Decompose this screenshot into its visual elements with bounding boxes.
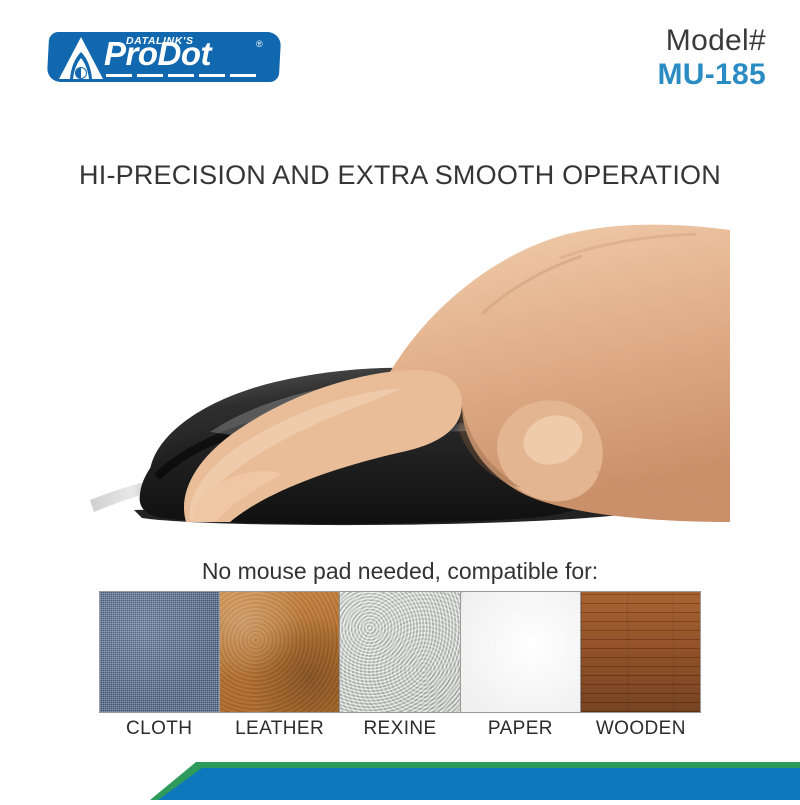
surface-swatch-strip (99, 591, 701, 713)
hero-product-image (90, 222, 730, 540)
footer-blue-band (158, 768, 800, 800)
swatch-label-leather: LEATHER (219, 718, 339, 740)
paper-swatch (460, 592, 580, 712)
registered-trademark-icon: ® (256, 39, 263, 49)
swatch-label-paper: PAPER (460, 718, 580, 740)
wooden-swatch (580, 592, 700, 712)
footer-accent-bar (0, 754, 800, 800)
rexine-swatch (339, 592, 459, 712)
cloth-swatch (100, 592, 219, 712)
prodot-logo: DATALINK'S ProDot ® (47, 32, 282, 82)
compatibility-title: No mouse pad needed, compatible for: (0, 558, 800, 585)
mountain-triangle-icon (58, 36, 104, 80)
page-headline: HI-PRECISION AND EXTRA SMOOTH OPERATION (0, 160, 800, 191)
footer-bar-shape (0, 754, 800, 800)
surface-label-row: CLOTH LEATHER REXINE PAPER WOODEN (99, 718, 701, 740)
page-header: DATALINK'S ProDot ® Model# MU-185 (0, 0, 800, 110)
model-block: Model# MU-185 (658, 24, 767, 92)
swatch-label-cloth: CLOTH (99, 718, 219, 740)
model-label: Model# (658, 24, 767, 58)
swatch-label-rexine: REXINE (340, 718, 460, 740)
swatch-label-wooden: WOODEN (581, 718, 701, 740)
hand-on-mouse-illustration (90, 222, 730, 540)
brand-name: ProDot (104, 37, 211, 70)
logo-underline-rule (106, 74, 256, 77)
logo-inner: DATALINK'S ProDot ® (48, 32, 280, 82)
model-number: MU-185 (658, 58, 767, 92)
leather-swatch (219, 592, 339, 712)
logo-text: DATALINK'S ProDot ® (104, 32, 280, 82)
